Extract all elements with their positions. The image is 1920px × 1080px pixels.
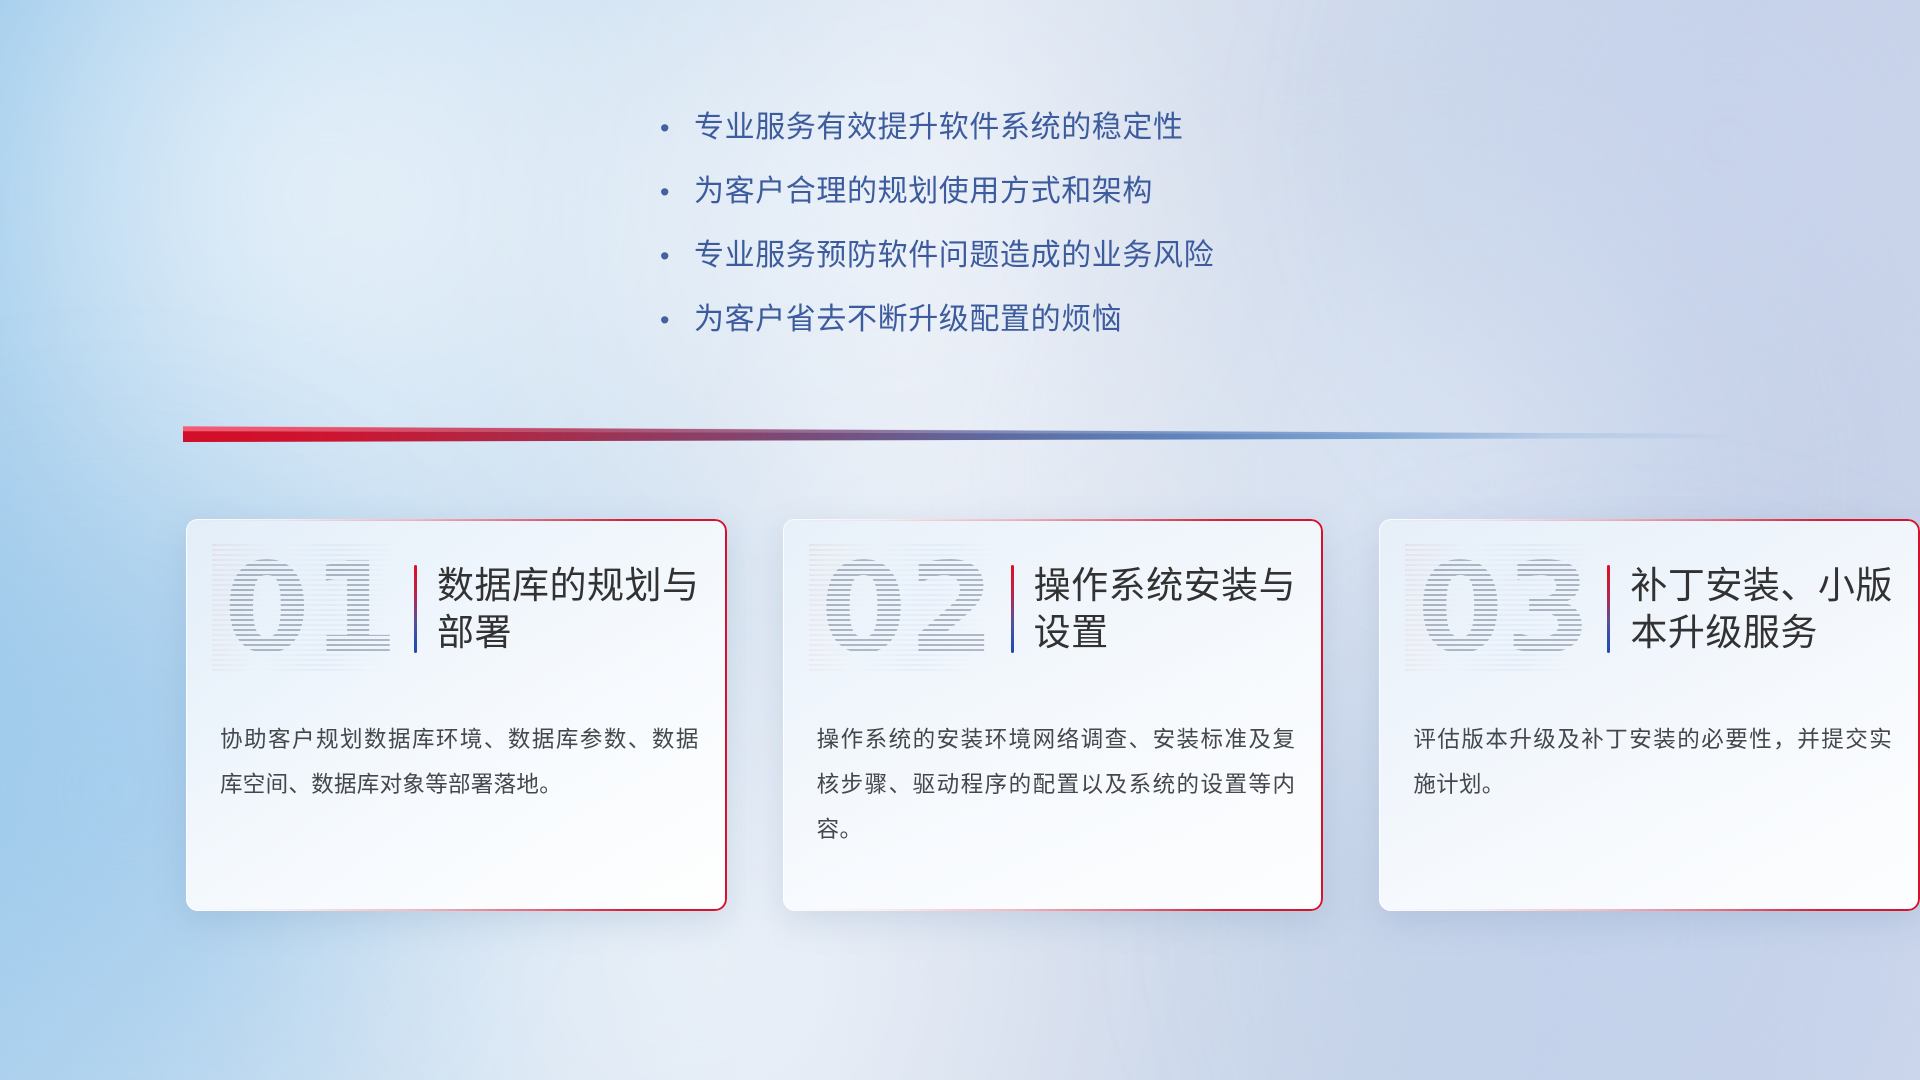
card-title-divider — [1011, 565, 1014, 653]
card-title-divider — [414, 565, 417, 653]
list-item: • 为客户合理的规划使用方式和架构 — [660, 177, 1214, 241]
list-item: • 为客户省去不断升级配置的烦恼 — [660, 305, 1214, 369]
card-description: 协助客户规划数据库环境、数据库参数、数据库空间、数据库对象等部署落地。 — [220, 717, 699, 807]
bullet-dot-icon: • — [660, 243, 694, 270]
service-card[interactable]: 02 操作系统安装与设置 操作系统的安装环境网络调查、安装标准及复核步骤、驱动程… — [783, 519, 1324, 911]
card-number-watermark: 03 — [1405, 544, 1605, 674]
service-card-list: 01 数据库的规划与部署 协助客户规划数据库环境、数据库参数、数据库空间、数据库… — [0, 519, 1920, 911]
card-description: 评估版本升级及补丁安装的必要性，并提交实施计划。 — [1413, 717, 1892, 807]
list-item: • 专业服务预防软件问题造成的业务风险 — [660, 241, 1214, 305]
bullet-dot-icon: • — [660, 179, 694, 206]
card-title: 补丁安装、小版本升级服务 — [1630, 562, 1920, 657]
card-title: 数据库的规划与部署 — [437, 562, 727, 657]
benefits-bullet-list: • 专业服务有效提升软件系统的稳定性 • 为客户合理的规划使用方式和架构 • 专… — [660, 113, 1214, 369]
card-description: 操作系统的安装环境网络调查、安装标准及复核步骤、驱动程序的配置以及系统的设置等内… — [817, 717, 1296, 852]
card-header: 03 补丁安装、小版本升级服务 — [1379, 519, 1920, 699]
service-card[interactable]: 01 数据库的规划与部署 协助客户规划数据库环境、数据库参数、数据库空间、数据库… — [186, 519, 727, 911]
list-item: • 专业服务有效提升软件系统的稳定性 — [660, 113, 1214, 177]
card-title-divider — [1607, 565, 1610, 653]
section-divider — [183, 424, 1743, 442]
bullet-text: 为客户省去不断升级配置的烦恼 — [694, 305, 1122, 335]
bullet-text: 专业服务预防软件问题造成的业务风险 — [694, 241, 1214, 271]
bullet-text: 为客户合理的规划使用方式和架构 — [694, 177, 1153, 207]
service-card[interactable]: 03 补丁安装、小版本升级服务 评估版本升级及补丁安装的必要性，并提交实施计划。 — [1379, 519, 1920, 911]
card-title: 操作系统安装与设置 — [1034, 562, 1324, 657]
bullet-text: 专业服务有效提升软件系统的稳定性 — [694, 113, 1184, 143]
card-header: 01 数据库的规划与部署 — [186, 519, 727, 699]
bullet-dot-icon: • — [660, 307, 694, 334]
bullet-dot-icon: • — [660, 115, 694, 142]
card-number-watermark: 01 — [212, 544, 412, 674]
card-header: 02 操作系统安装与设置 — [783, 519, 1324, 699]
card-number-watermark: 02 — [809, 544, 1009, 674]
